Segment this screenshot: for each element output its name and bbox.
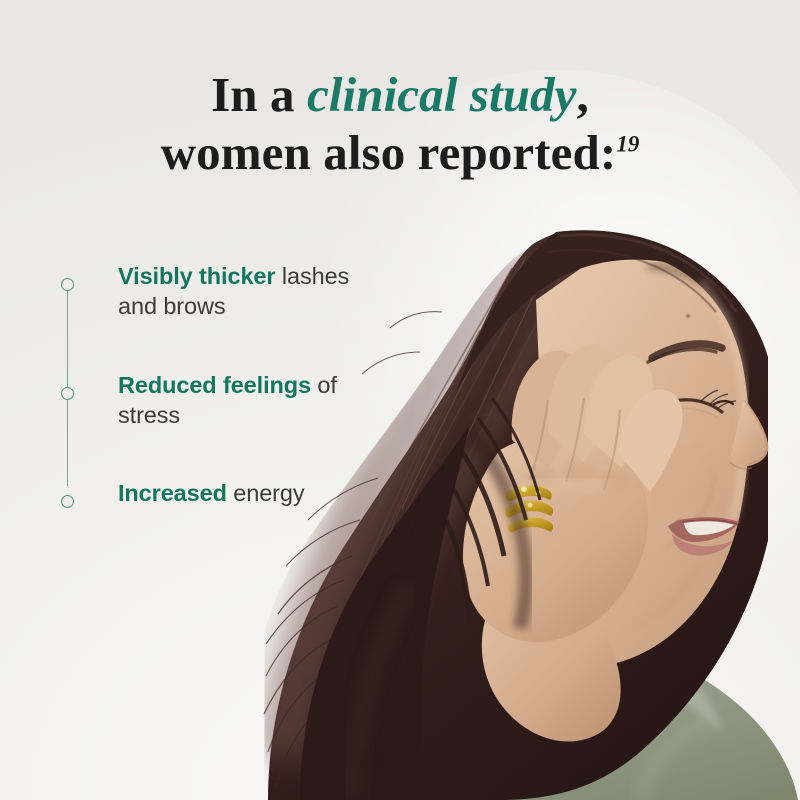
- headline-suffix: ,: [577, 67, 589, 122]
- hand: [463, 344, 683, 741]
- headline-prefix: In a: [211, 67, 307, 122]
- footnote-reference: 19: [616, 130, 639, 156]
- list-item-text: Reduced feelings of stress: [118, 372, 337, 428]
- hair-front: [456, 230, 744, 392]
- list-item-lead: Visibly thicker: [118, 263, 275, 289]
- page-title: In a clinical study, women also reported…: [0, 66, 800, 182]
- list-item-rest: energy: [227, 480, 305, 506]
- fingers: [512, 344, 683, 492]
- list-item-lead: Reduced feelings: [118, 372, 311, 398]
- list-item-text: Visibly thicker lashes and brows: [118, 263, 349, 319]
- circle-marker-icon: [61, 387, 74, 400]
- sweater: [318, 633, 798, 800]
- circle-marker-icon: [61, 495, 74, 508]
- list-item-text: Increased energy: [118, 480, 305, 506]
- benefit-list: Visibly thicker lashes and brows Reduced…: [56, 262, 386, 523]
- headline-line-2: women also reported:19: [0, 124, 800, 182]
- circle-marker-icon: [61, 278, 74, 291]
- promo-panel: In a clinical study, women also reported…: [0, 0, 800, 800]
- list-item: Increased energy: [56, 479, 386, 523]
- gold-rings: [505, 485, 553, 532]
- list-item-lead: Increased: [118, 480, 227, 506]
- headline-line-1: In a clinical study,: [0, 66, 800, 124]
- headline-emphasis: clinical study: [307, 67, 577, 122]
- face: [536, 252, 768, 669]
- list-item: Reduced feelings of stress: [56, 371, 386, 431]
- hair-over-hand: [446, 398, 540, 628]
- headline-line-2-text: women also reported:: [161, 125, 617, 180]
- list-item: Visibly thicker lashes and brows: [56, 262, 386, 322]
